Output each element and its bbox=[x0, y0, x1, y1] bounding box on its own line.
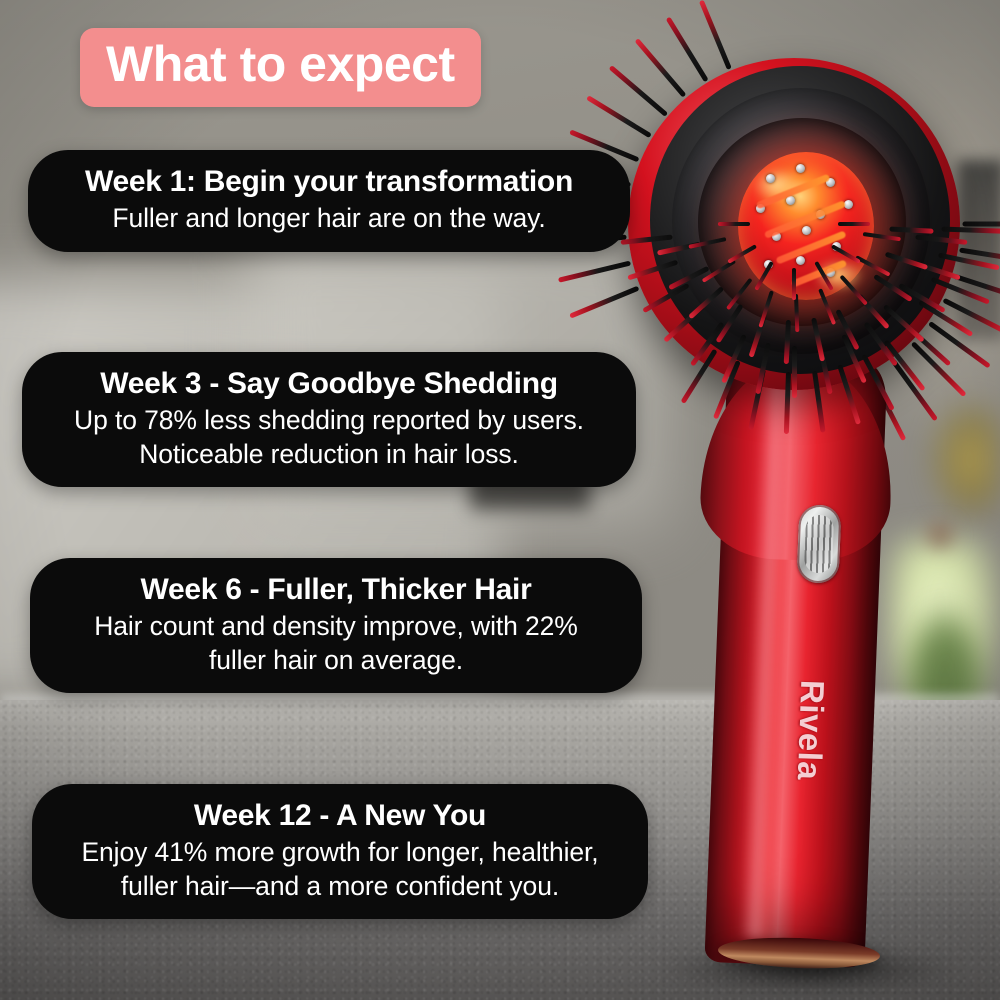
timeline-body: Up to 78% less shedding reported by user… bbox=[46, 404, 612, 471]
led-emitter-dot bbox=[796, 256, 805, 265]
timeline-body-line: Hair count and density improve, with 22% bbox=[54, 610, 618, 643]
brush-bristle bbox=[665, 16, 708, 82]
brand-logo: Rivela bbox=[786, 679, 831, 830]
timeline-body-line: Up to 78% less shedding reported by user… bbox=[46, 404, 612, 437]
timeline-body-line: Enjoy 41% more growth for longer, health… bbox=[56, 836, 624, 869]
brush-bristle bbox=[838, 222, 870, 226]
brush-bristle bbox=[891, 358, 939, 421]
brush-bristle bbox=[699, 0, 732, 70]
led-emitter-dot bbox=[802, 226, 811, 235]
timeline-body-line: Fuller and longer hair are on the way. bbox=[52, 202, 606, 235]
timeline-body: Enjoy 41% more growth for longer, health… bbox=[56, 836, 624, 903]
led-emitter-dot bbox=[766, 174, 775, 183]
page-title: What to expect bbox=[80, 28, 481, 107]
timeline-item-week-3: Week 3 - Say Goodbye Shedding Up to 78% … bbox=[22, 352, 636, 487]
timeline-body-line: Noticeable reduction in hair loss. bbox=[46, 438, 612, 471]
timeline-heading: Week 12 - A New You bbox=[56, 798, 624, 833]
timeline-item-week-12: Week 12 - A New You Enjoy 41% more growt… bbox=[32, 784, 648, 919]
brush-bristle bbox=[718, 222, 750, 226]
brush-bristle bbox=[608, 65, 668, 117]
brush-bristle bbox=[792, 346, 797, 398]
brush-bristle bbox=[635, 38, 687, 98]
led-emitter-dot bbox=[796, 164, 805, 173]
timeline-heading: Week 6 - Fuller, Thicker Hair bbox=[54, 572, 618, 607]
timeline-item-week-6: Week 6 - Fuller, Thicker Hair Hair count… bbox=[30, 558, 642, 693]
timeline-heading: Week 1: Begin your transformation bbox=[52, 164, 606, 199]
brush-bristle bbox=[792, 268, 796, 300]
power-button-icon[interactable] bbox=[797, 504, 842, 584]
brush-bristle bbox=[943, 298, 1000, 336]
brush-bristle bbox=[586, 95, 652, 138]
brush-bristle bbox=[962, 222, 1000, 227]
brush-bristle bbox=[569, 286, 639, 319]
timeline-body-line: fuller hair on average. bbox=[54, 644, 618, 677]
timeline-body-line: fuller hair—and a more confident you. bbox=[56, 870, 624, 903]
timeline-body: Hair count and density improve, with 22%… bbox=[54, 610, 618, 677]
brush-bristle bbox=[558, 261, 631, 283]
timeline-item-week-1: Week 1: Begin your transformation Fuller… bbox=[28, 150, 630, 252]
timeline-heading: Week 3 - Say Goodbye Shedding bbox=[46, 366, 612, 401]
timeline-body: Fuller and longer hair are on the way. bbox=[52, 202, 606, 235]
